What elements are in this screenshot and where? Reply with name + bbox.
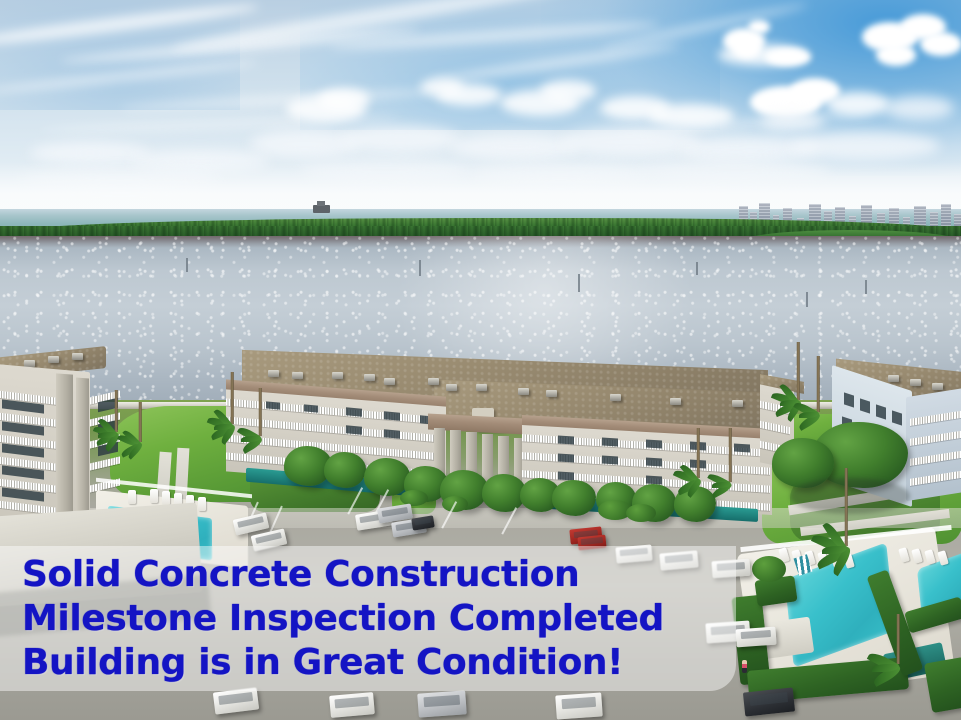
rooftop-ac-unit: [910, 379, 921, 386]
unit-window: [558, 453, 574, 462]
cumulus-cloud: [450, 134, 580, 160]
cumulus-cloud: [920, 32, 961, 56]
rooftop-ac-unit: [546, 390, 557, 397]
parked-car: [735, 627, 776, 648]
rooftop-ac-unit: [72, 353, 83, 360]
photo-canvas: Solid Concrete Construction Milestone In…: [0, 0, 961, 720]
rooftop-ac-unit: [518, 388, 529, 395]
parked-car: [417, 690, 467, 717]
rooftop-ac-unit: [446, 384, 457, 391]
cumulus-cloud: [826, 92, 890, 116]
unit-window: [646, 457, 662, 466]
shade-tree: [552, 480, 596, 516]
unit-window: [602, 455, 618, 464]
lounge-chair: [128, 490, 136, 504]
unit-window: [266, 401, 280, 409]
caption-line-1: Solid Concrete Construction: [22, 553, 736, 597]
caption-block: Solid Concrete Construction Milestone In…: [0, 546, 736, 691]
tree-shadow: [790, 478, 910, 514]
unit-window: [734, 443, 750, 452]
rooftop-ac-unit: [670, 398, 681, 405]
lounge-chair: [162, 491, 170, 505]
shrub: [626, 504, 656, 522]
unit-window: [602, 437, 618, 446]
cumulus-cloud: [436, 84, 502, 106]
cumulus-cloud: [648, 104, 734, 128]
rooftop-ac-unit: [932, 383, 943, 390]
cumulus-cloud: [765, 48, 811, 66]
channel-piling: [186, 258, 188, 272]
pedestrian: [742, 660, 747, 673]
rooftop-ac-unit: [332, 372, 343, 379]
unit-window: [304, 404, 318, 412]
rooftop-ac-unit: [476, 384, 487, 391]
unit-window: [384, 411, 400, 420]
channel-piling: [578, 274, 580, 292]
rooftop-ac-unit: [610, 394, 621, 401]
cumulus-cloud: [340, 126, 460, 152]
channel-piling: [806, 292, 808, 307]
lounge-chair: [150, 489, 158, 503]
shrub: [752, 556, 786, 582]
cumulus-cloud: [560, 128, 700, 156]
cumulus-cloud: [318, 88, 370, 110]
caption-line-3: Building is in Great Condition!: [22, 641, 736, 685]
cumulus-cloud: [540, 80, 596, 102]
cumulus-cloud: [748, 20, 770, 34]
shade-tree: [324, 452, 366, 488]
parked-car: [555, 692, 603, 719]
rooftop-ac-unit: [292, 372, 303, 379]
rooftop-ac-unit: [384, 378, 395, 385]
parked-car: [329, 692, 375, 718]
unit-window: [346, 407, 362, 416]
cumulus-cloud: [884, 96, 954, 120]
rooftop-ac-unit: [732, 400, 743, 407]
rooftop-ac-unit: [888, 375, 899, 382]
tower-east-balcony: [90, 457, 120, 471]
cumulus-cloud: [876, 44, 916, 66]
unit-window: [384, 429, 400, 438]
rooftop-ac-unit: [48, 356, 59, 363]
channel-piling: [865, 280, 867, 294]
unit-window: [558, 435, 574, 444]
channel-piling: [419, 260, 421, 276]
rooftop-ac-unit: [428, 378, 439, 385]
cumulus-cloud: [790, 132, 940, 160]
caption-line-2: Milestone Inspection Completed: [22, 597, 736, 641]
cargo-ship: [313, 205, 330, 213]
cumulus-cloud: [760, 112, 824, 132]
rooftop-ac-unit: [268, 370, 279, 377]
channel-piling: [696, 262, 698, 275]
rooftop-ac-unit: [364, 374, 375, 381]
unit-window: [346, 425, 362, 434]
unit-window: [646, 439, 662, 448]
lounge-chair: [198, 497, 206, 511]
